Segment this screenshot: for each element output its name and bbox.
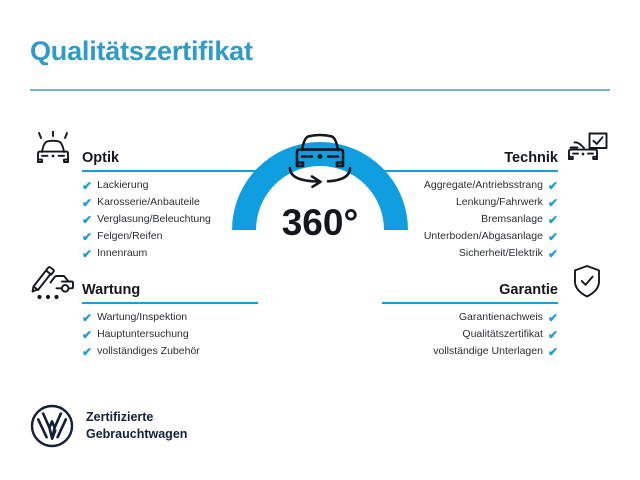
shield-check-icon <box>564 263 610 303</box>
list-item-label: Verglasung/Beleuchtung <box>97 214 211 225</box>
list-item: ✔ Bremsanlage <box>382 211 610 228</box>
list-item: ✔ Felgen/Reifen <box>30 228 258 245</box>
vw-footer-text: Zertifizierte Gebrauchtwagen <box>86 409 187 443</box>
list-item: ✔ Innenraum <box>30 245 258 262</box>
list-item-label: Innenraum <box>97 248 147 259</box>
check-icon: ✔ <box>548 329 558 341</box>
section-wartung: Wartung ✔ Wartung/Inspektion ✔ Hauptunte… <box>30 263 258 360</box>
list-item: ✔ Lenkung/Fahrwerk <box>382 194 610 211</box>
list-item: ✔ vollständige Unterlagen <box>382 343 610 360</box>
section-garantie: Garantie ✔ Garantienachweis ✔ Qualitätsz… <box>382 263 610 360</box>
list-item: ✔ Aggregate/Antriebsstrang <box>382 177 610 194</box>
list-item: ✔ Qualitätszertifikat <box>382 326 610 343</box>
list-item-label: Lackierung <box>97 180 148 191</box>
section-technik-list: ✔ Aggregate/Antriebsstrang ✔ Lenkung/Fah… <box>382 177 610 262</box>
check-icon: ✔ <box>82 214 92 226</box>
list-item-label: Aggregate/Antriebsstrang <box>424 180 543 191</box>
section-technik-underline <box>382 170 558 172</box>
page-title: Qualitätszertifikat <box>30 36 253 67</box>
section-optik-header: Optik <box>30 131 258 177</box>
check-icon: ✔ <box>82 197 92 209</box>
list-item-label: Wartung/Inspektion <box>97 312 187 323</box>
list-item-label: Unterboden/Abgasanlage <box>424 231 543 242</box>
list-item: ✔ Lackierung <box>30 177 258 194</box>
car-shine-icon <box>30 131 76 171</box>
section-wartung-list: ✔ Wartung/Inspektion ✔ Hauptuntersuchung… <box>30 309 258 360</box>
check-icon: ✔ <box>82 231 92 243</box>
section-technik: Technik ✔ Aggregate/Antriebsstrang ✔ Len… <box>382 131 610 262</box>
list-item-label: Karosserie/Anbauteile <box>97 197 200 208</box>
list-item: ✔ Garantienachweis <box>382 309 610 326</box>
vw-footer: Zertifizierte Gebrauchtwagen <box>30 404 187 448</box>
list-item-label: Bremsanlage <box>481 214 543 225</box>
check-icon: ✔ <box>548 346 558 358</box>
list-item-label: vollständiges Zubehör <box>97 346 200 357</box>
section-garantie-header: Garantie <box>382 263 610 309</box>
list-item-label: Sicherheit/Elektrik <box>459 248 543 259</box>
section-optik-list: ✔ Lackierung ✔ Karosserie/Anbauteile ✔ V… <box>30 177 258 262</box>
badge-degrees: 360° <box>282 202 359 243</box>
list-item: ✔ Hauptuntersuchung <box>30 326 258 343</box>
vw-footer-line1: Zertifizierte <box>86 409 187 426</box>
title-divider <box>30 89 610 91</box>
check-icon: ✔ <box>82 312 92 324</box>
section-garantie-list: ✔ Garantienachweis ✔ Qualitätszertifikat… <box>382 309 610 360</box>
section-optik-title: Optik <box>82 150 119 166</box>
check-icon: ✔ <box>548 214 558 226</box>
list-item: ✔ Karosserie/Anbauteile <box>30 194 258 211</box>
list-item-label: vollständige Unterlagen <box>433 346 543 357</box>
certificate-page: Qualitätszertifikat <box>0 0 640 480</box>
list-item-label: Lenkung/Fahrwerk <box>456 197 543 208</box>
section-optik: Optik ✔ Lackierung ✔ Karosserie/Anbautei… <box>30 131 258 262</box>
check-icon: ✔ <box>82 329 92 341</box>
check-icon: ✔ <box>548 231 558 243</box>
section-technik-title: Technik <box>504 150 558 166</box>
list-item-label: Garantienachweis <box>459 312 543 323</box>
check-icon: ✔ <box>82 346 92 358</box>
check-icon: ✔ <box>548 197 558 209</box>
section-wartung-title: Wartung <box>82 282 140 298</box>
360-check-badge: 360° Gebrauchtwagen-Check <box>232 122 408 312</box>
vw-roundel-logo <box>30 404 74 448</box>
section-garantie-underline <box>382 302 558 304</box>
list-item-label: Qualitätszertifikat <box>462 329 543 340</box>
check-icon: ✔ <box>548 312 558 324</box>
list-item-label: Felgen/Reifen <box>97 231 162 242</box>
list-item: ✔ vollständiges Zubehör <box>30 343 258 360</box>
pen-car-service-icon <box>30 263 76 303</box>
check-icon: ✔ <box>548 248 558 260</box>
list-item: ✔ Verglasung/Beleuchtung <box>30 211 258 228</box>
list-item: ✔ Wartung/Inspektion <box>30 309 258 326</box>
section-technik-header: Technik <box>382 131 610 177</box>
check-icon: ✔ <box>82 248 92 260</box>
list-item-label: Hauptuntersuchung <box>97 329 189 340</box>
car-checkbox-icon <box>564 131 610 171</box>
list-item: ✔ Sicherheit/Elektrik <box>382 245 610 262</box>
check-icon: ✔ <box>82 180 92 192</box>
section-garantie-title: Garantie <box>499 282 558 298</box>
check-icon: ✔ <box>548 180 558 192</box>
vw-footer-line2: Gebrauchtwagen <box>86 426 187 443</box>
list-item: ✔ Unterboden/Abgasanlage <box>382 228 610 245</box>
section-wartung-header: Wartung <box>30 263 258 309</box>
